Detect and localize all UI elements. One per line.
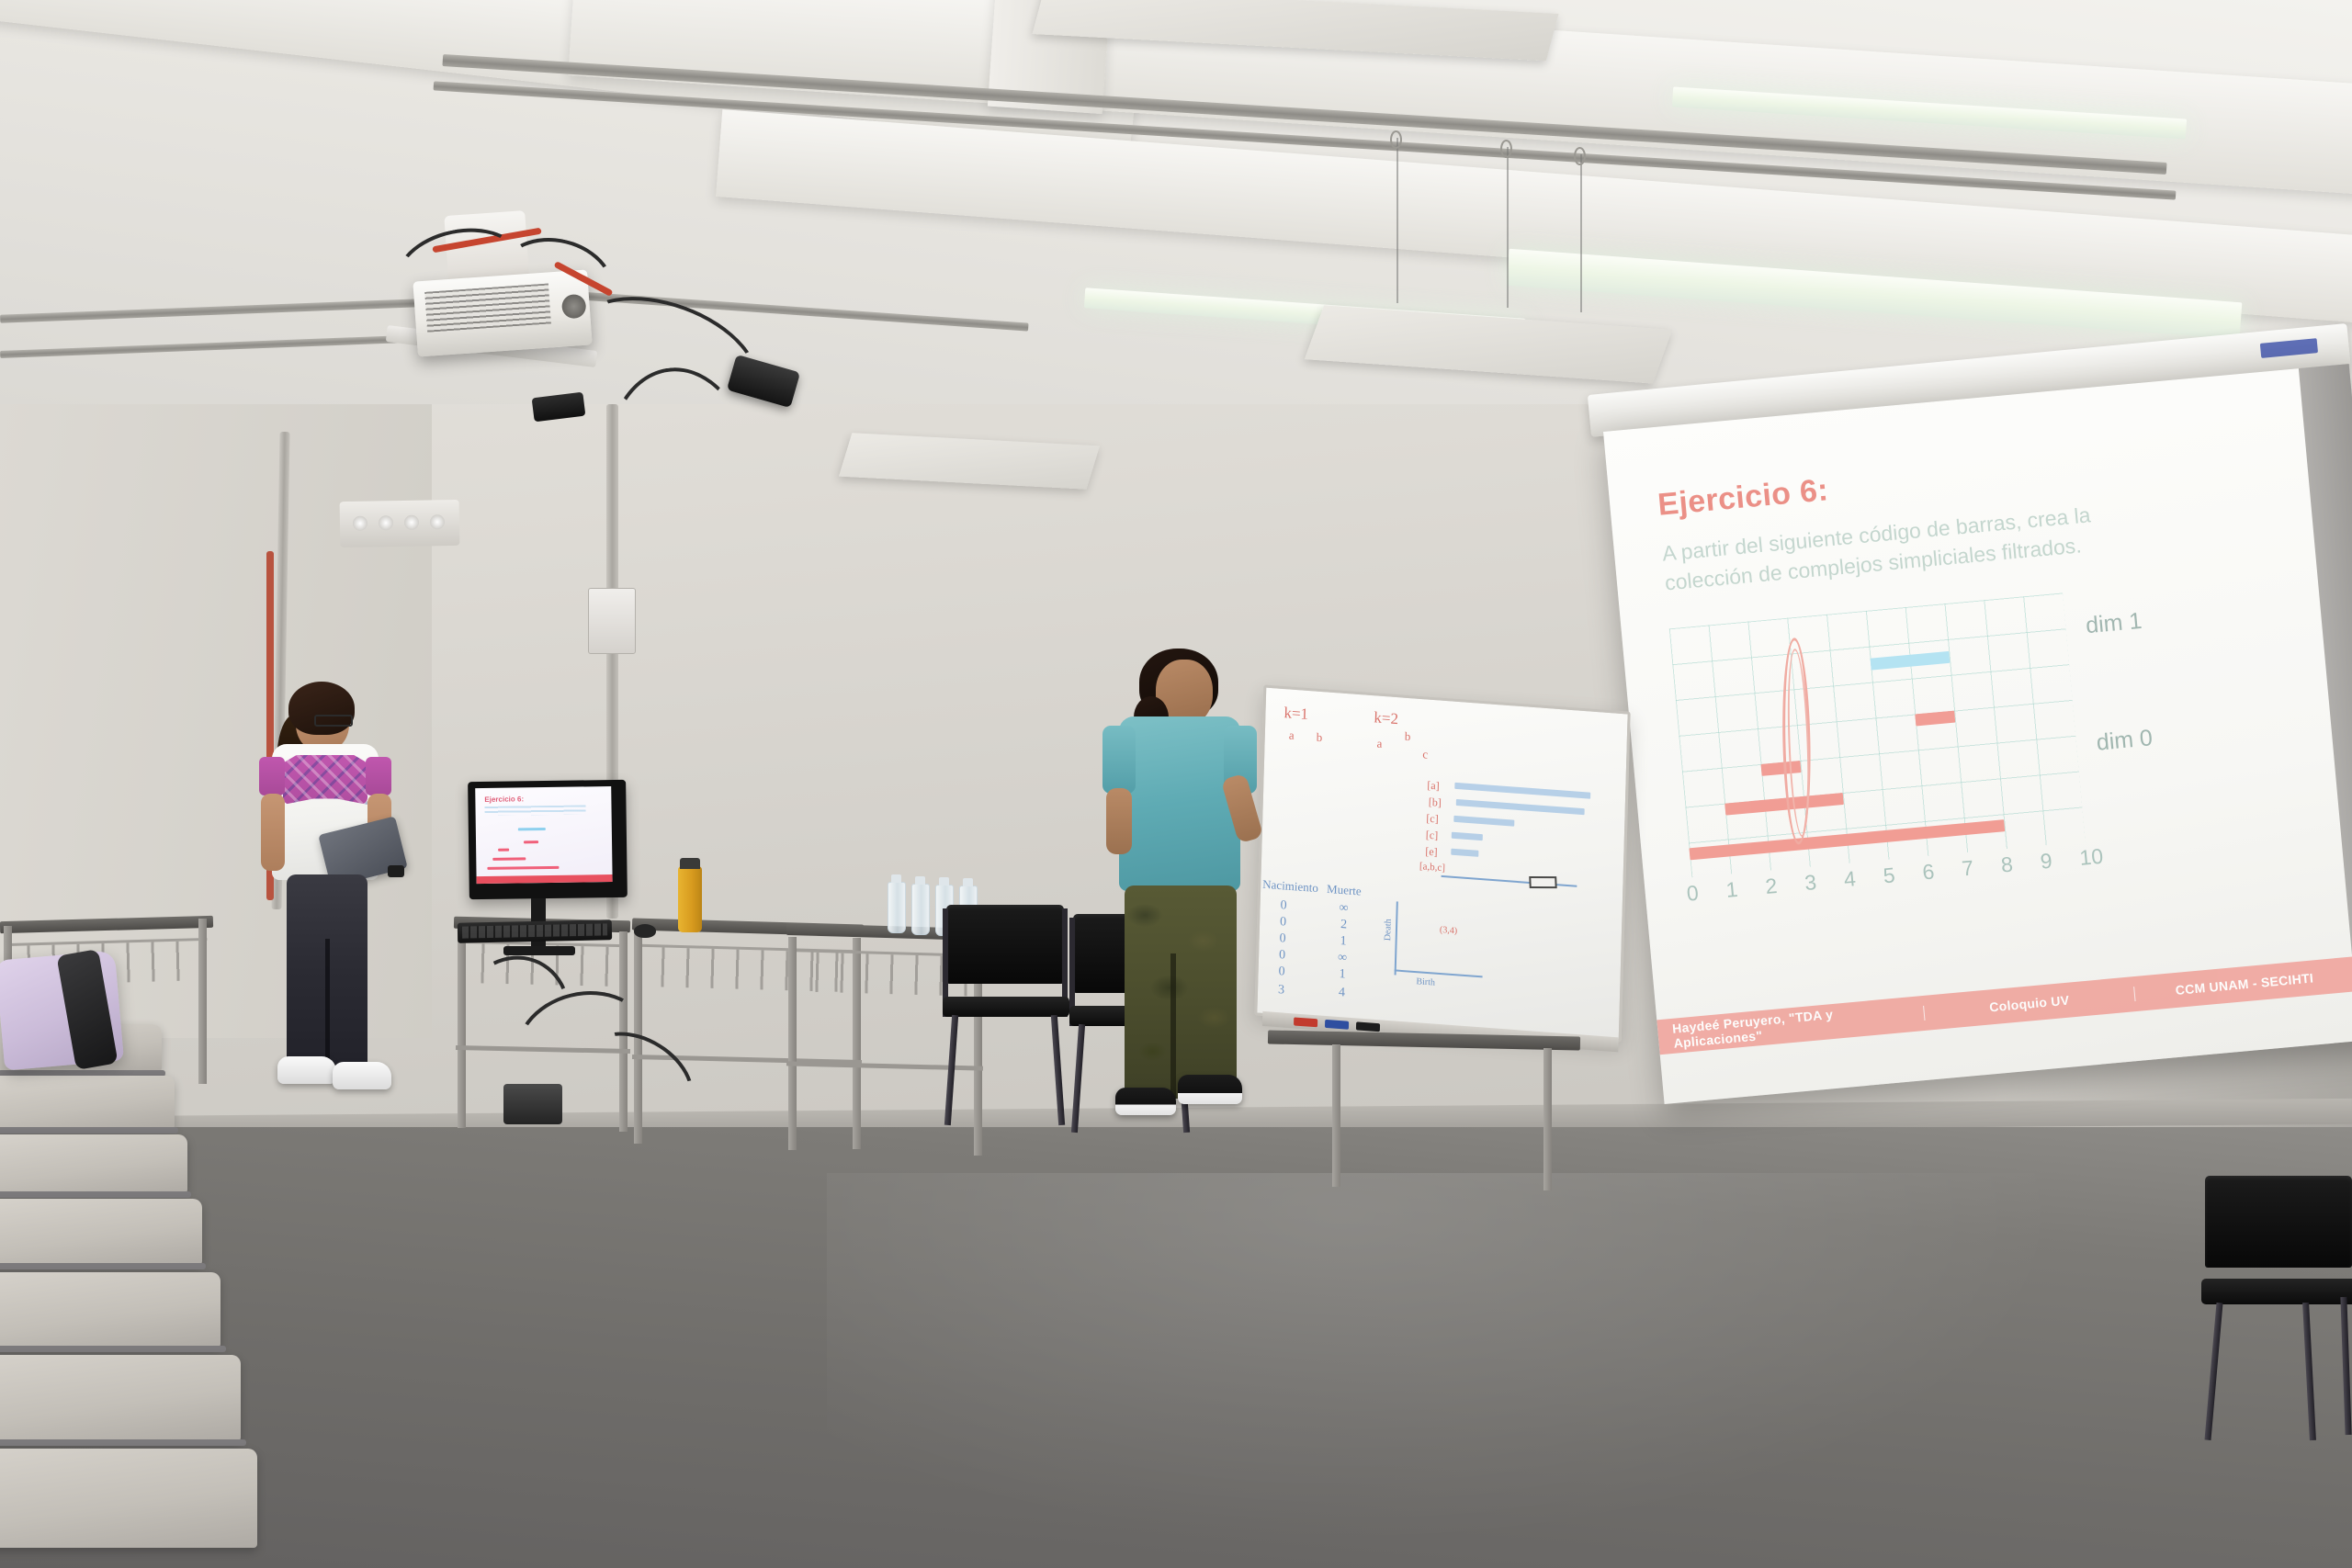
monitor-slide-footer [477, 874, 613, 884]
yellow-water-bottle[interactable] [678, 866, 702, 932]
whiteboard-label-k2: k=2 [1374, 708, 1398, 728]
barcode-grid [1669, 593, 2086, 878]
whiteboard-barline [1453, 816, 1514, 827]
arm-left [1106, 788, 1132, 854]
shoe-right [333, 1062, 391, 1089]
auditorium-seat[interactable] [0, 1355, 241, 1441]
water-bottle[interactable] [911, 884, 930, 935]
classroom-scene: Ejercicio 6: A partir del siguiente códi… [0, 0, 2352, 1568]
barcode-bar-dim0 [1915, 711, 1955, 727]
person-participant [1119, 660, 1284, 1174]
tick-label: 6 [1921, 860, 1935, 886]
whiteboard-bracket: [e] [1425, 845, 1438, 860]
hanging-wire [1507, 147, 1509, 308]
water-bottle-cap [915, 876, 925, 885]
projection-screen: Ejercicio 6: A partir del siguiente códi… [1603, 364, 2352, 1104]
hanging-wire [1396, 138, 1398, 303]
slide-footer: Haydeé Peruyero, "TDA y Aplicaciones" Co… [1657, 956, 2352, 1055]
whiteboard-barline [1456, 799, 1585, 815]
whiteboard-bracket: [b] [1429, 795, 1442, 810]
whiteboard-marker[interactable] [1294, 1017, 1317, 1027]
whiteboard-plot-x-axis [1395, 969, 1483, 977]
barcode-chart: dim 1 dim 0 0 1 2 3 4 5 6 7 8 9 10 [1669, 574, 2301, 931]
slide-footer-event: Coloquio UV [1923, 987, 2135, 1021]
tick-label: 10 [2078, 844, 2104, 871]
whiteboard-eraser[interactable] [1529, 876, 1556, 888]
torso-tshirt [1119, 716, 1240, 891]
whiteboard-cell: ∞ [1338, 951, 1347, 966]
barcode-bar-dim0 [1724, 793, 1844, 816]
monitor-base [503, 946, 575, 955]
auditorium-seat[interactable] [0, 1199, 202, 1265]
whiteboard-plot-point: (3,4) [1440, 925, 1457, 936]
water-bottle-cap [891, 874, 901, 883]
water-bottle[interactable] [888, 882, 906, 933]
whiteboard-bracket: [a,b,c] [1419, 861, 1445, 874]
sleeve-left [1102, 726, 1136, 794]
whiteboard-barline [1452, 832, 1483, 840]
monitor-screen: Ejercicio 6: [475, 786, 612, 884]
person-presenter [272, 691, 419, 1104]
tick-label: 1 [1725, 877, 1739, 903]
keyboard-keys [462, 923, 607, 938]
glasses [314, 715, 353, 727]
slide-title: Ejercicio 6: [1657, 433, 2269, 524]
auditorium-seat[interactable] [0, 1449, 257, 1548]
folding-chair-right[interactable] [2205, 1176, 2352, 1405]
junction-box [340, 500, 460, 547]
ceiling-hook [1574, 147, 1586, 165]
whiteboard-marker[interactable] [1325, 1020, 1349, 1030]
sleeve-right [366, 757, 391, 795]
arm-left [261, 794, 285, 871]
legs-camouflage [1125, 886, 1237, 1099]
slide-footer-institution: CCM UNAM - SECIHTI [2133, 966, 2352, 1001]
keyboard[interactable] [458, 919, 612, 943]
whiteboard-point-c: c [1422, 747, 1428, 761]
slide-footer-author: Haydeé Peruyero, "TDA y Aplicaciones" [1657, 998, 1926, 1052]
whiteboard-cell: 1 [1340, 934, 1346, 950]
desktop-monitor[interactable]: Ejercicio 6: [468, 780, 628, 899]
ceiling-hook [1500, 140, 1512, 158]
whiteboard-marker[interactable] [1356, 1021, 1380, 1032]
blouse-embroidery [283, 755, 367, 805]
chair-back [946, 905, 1064, 984]
hanging-wire [1580, 154, 1582, 312]
whiteboard-point-b: b [1317, 730, 1323, 745]
whiteboard-cell: 2 [1340, 918, 1347, 933]
whiteboard-label-k1: k=1 [1283, 704, 1308, 724]
floor-reflection [827, 1173, 2113, 1568]
whiteboard-barline [1454, 783, 1590, 799]
whiteboard-axis-label-y: Death [1383, 919, 1394, 942]
bottle-cap [680, 858, 700, 869]
whiteboard-bracket: [a] [1427, 779, 1440, 794]
tick-label: 3 [1804, 871, 1817, 897]
whiteboard-bracket: [c] [1426, 812, 1439, 827]
mouse[interactable] [634, 924, 656, 938]
barcode-bar-dim1 [1871, 651, 1951, 671]
tick-label: 2 [1764, 874, 1778, 899]
dim0-label: dim 0 [2096, 726, 2154, 757]
water-bottle-cap [963, 878, 973, 886]
tick-label: 5 [1883, 863, 1896, 889]
screen-brand-logo [2260, 338, 2318, 358]
dim1-label: dim 1 [2085, 608, 2143, 639]
wall-switch-box[interactable] [588, 588, 636, 654]
leg-separation [1170, 953, 1176, 1099]
shoe-left [1115, 1088, 1176, 1115]
whiteboard-bracket: [c] [1426, 829, 1439, 843]
sleeve-left [259, 757, 285, 795]
hair [288, 682, 355, 735]
ceiling-hook [1390, 130, 1402, 149]
whiteboard-axis-label-x: Birth [1416, 976, 1435, 988]
whiteboard-barline [1451, 849, 1478, 857]
shoe-right [1178, 1075, 1242, 1104]
tick-label: 0 [1686, 881, 1700, 907]
folding-chair[interactable] [946, 905, 1064, 1098]
tick-label: 9 [2040, 849, 2053, 874]
tick-label: 7 [1961, 856, 1974, 882]
whiteboard-point-b: b [1405, 729, 1411, 744]
chair-seat [943, 997, 1069, 1017]
whiteboard-point-a: a [1376, 737, 1382, 751]
floor-power-unit [503, 1084, 562, 1124]
screen-surface: Ejercicio 6: A partir del siguiente códi… [1603, 368, 2352, 1104]
whiteboard-table-header-muerte: Muerte [1327, 882, 1362, 899]
tick-label: 4 [1843, 867, 1857, 893]
wristwatch [388, 865, 404, 877]
auditorium-seat[interactable] [0, 1272, 220, 1348]
monitor-slide-title: Ejercicio 6: [484, 795, 524, 804]
whiteboard-cell: 1 [1339, 967, 1345, 983]
barcode-bar-dim0 [1690, 820, 2006, 861]
leg-separation [325, 939, 330, 1067]
whiteboard: k=1 k=2 a b a b c [a] [b] [c] [c] [e] [a… [1254, 684, 1630, 1042]
whiteboard-point-a: a [1289, 728, 1295, 743]
auditorium-seat[interactable] [0, 1134, 187, 1193]
shoe-left [277, 1056, 336, 1084]
whiteboard-plot-y-axis [1395, 901, 1398, 975]
auditorium-seat[interactable] [0, 1076, 175, 1129]
presentation-slide: Ejercicio 6: A partir del siguiente códi… [1603, 368, 2352, 1104]
tick-label: 8 [2000, 852, 2014, 878]
water-bottle-cap [939, 877, 949, 886]
monitor-slide-body [484, 805, 585, 816]
whiteboard-cell: 4 [1339, 986, 1345, 1001]
whiteboard-cell: ∞ [1339, 901, 1348, 917]
